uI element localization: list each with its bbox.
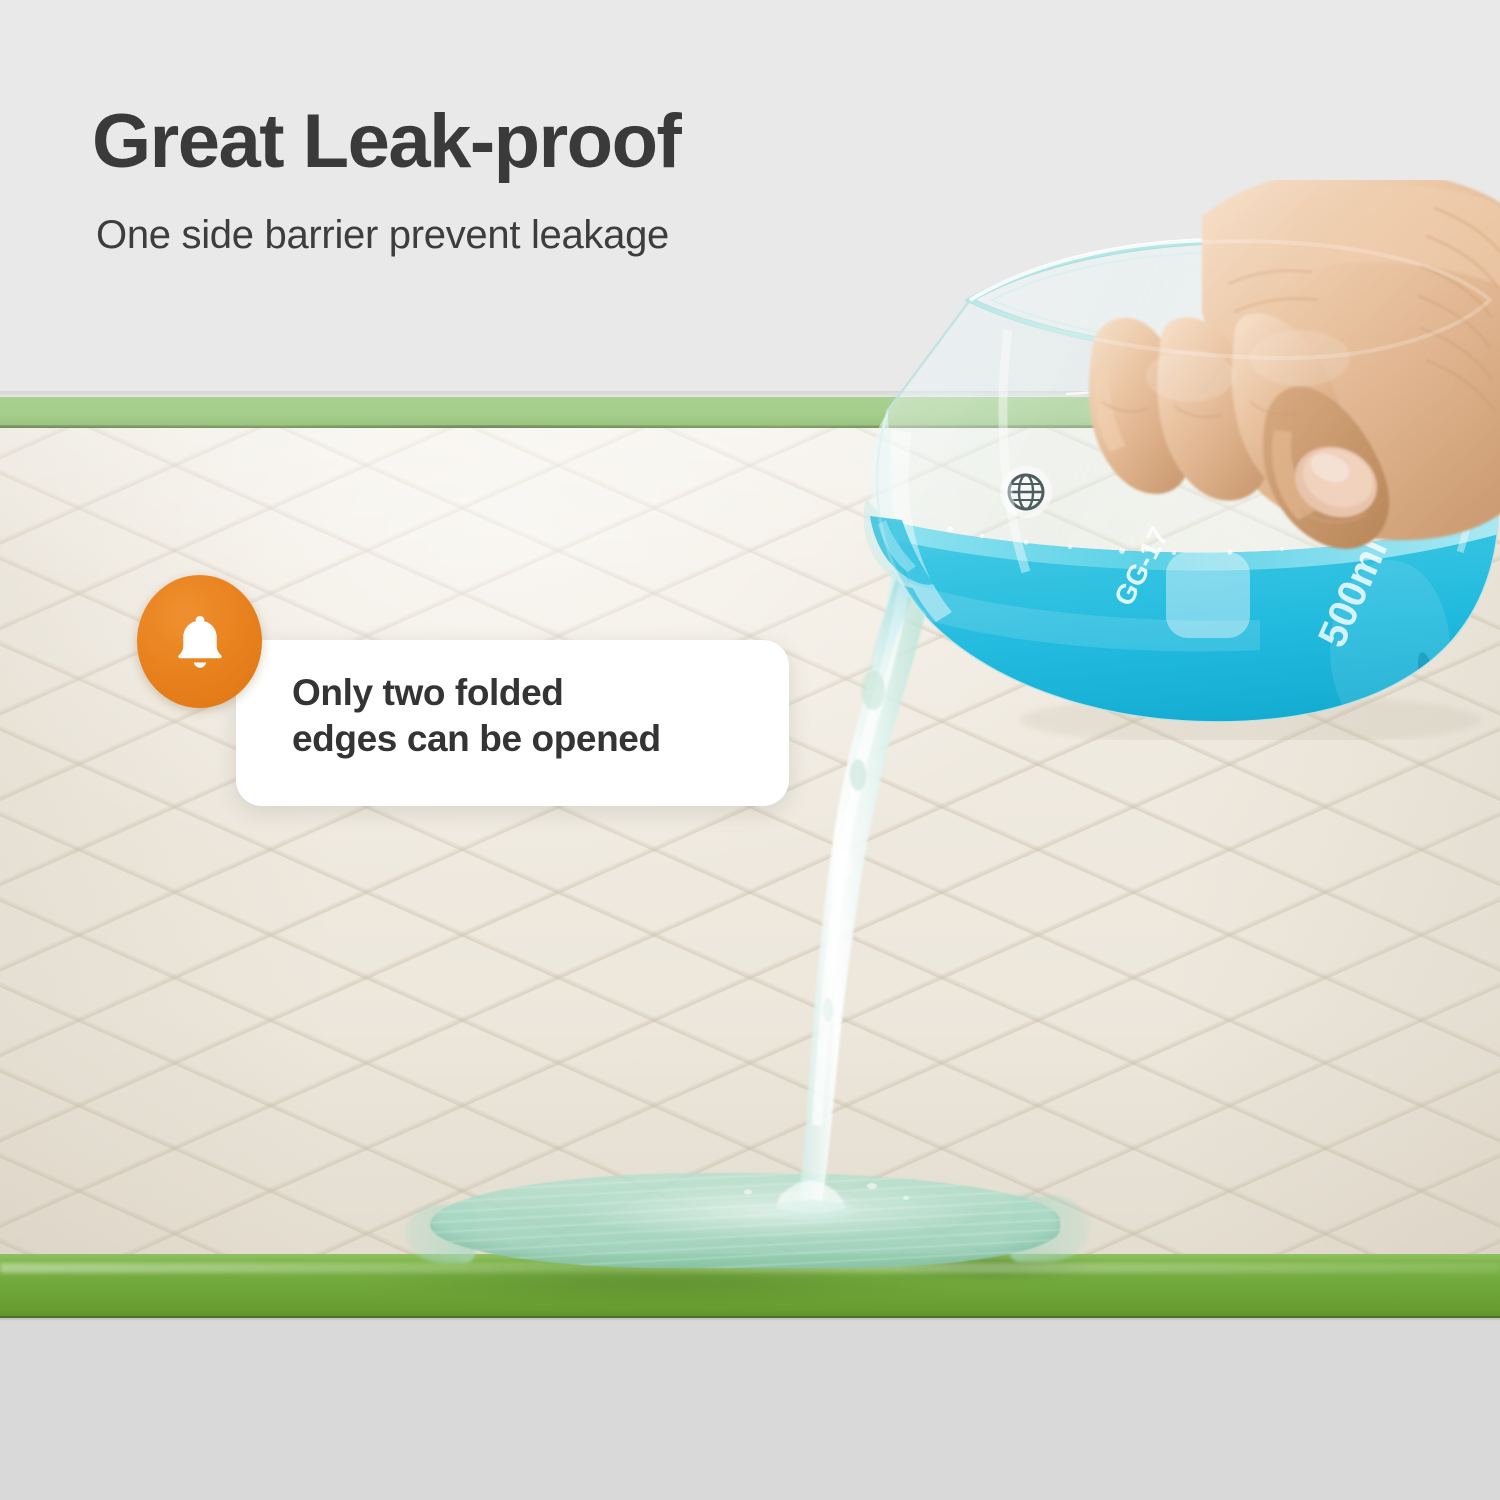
page-subtitle: One side barrier prevent leakage — [96, 215, 669, 255]
puddle-ripples — [430, 1173, 1060, 1268]
callout-text: Only two folded edges can be opened — [292, 670, 772, 762]
page-title: Great Leak-proof — [92, 104, 680, 180]
callout-card: Only two folded edges can be opened — [236, 640, 789, 806]
spilled-liquid-puddle — [430, 1173, 1060, 1268]
product-feature-image: Great Leak-proof One side barrier preven… — [0, 0, 1500, 1500]
hand-pouring-beaker: 500 APPROX 300 200 100 500ml GG-17 — [830, 180, 1500, 740]
alert-badge — [137, 575, 262, 708]
beaker-label-patch — [1166, 552, 1250, 638]
background-bottom — [0, 1318, 1500, 1500]
callout-line-2: edges can be opened — [292, 716, 772, 762]
bell-icon — [171, 611, 229, 673]
hand — [1089, 180, 1500, 549]
callout-line-1: Only two folded — [292, 670, 772, 716]
